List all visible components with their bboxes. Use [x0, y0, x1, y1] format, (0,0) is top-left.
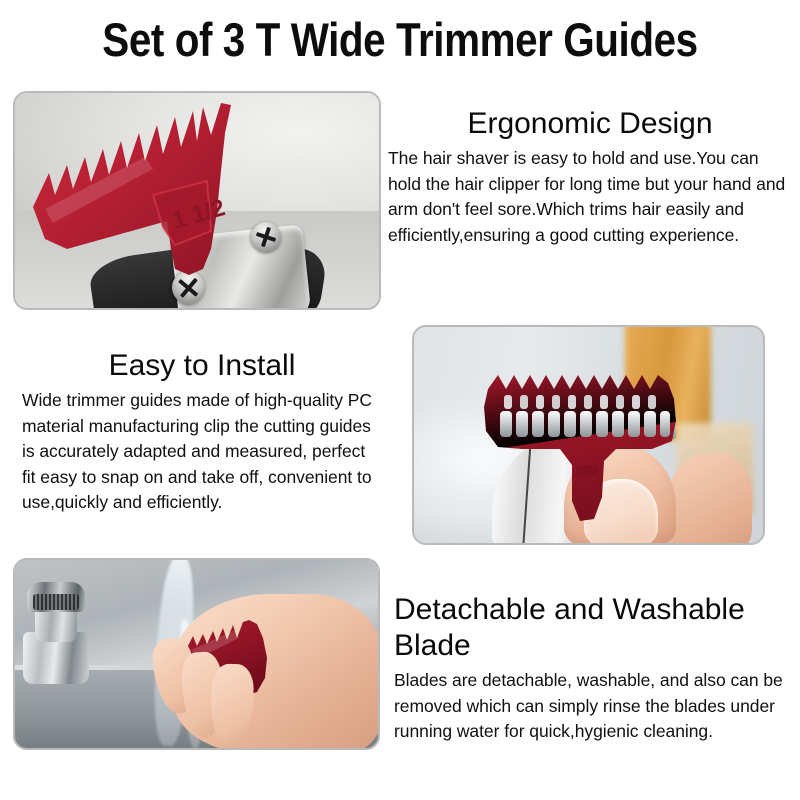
section-heading-wash: Detachable and Washable Blade: [394, 592, 794, 664]
product-image-wash: [13, 558, 380, 750]
guide-teeth-slots: [500, 411, 670, 437]
section-text-wash: Detachable and Washable Blade Blades are…: [394, 592, 794, 745]
photo-scene-install: [414, 327, 763, 543]
product-image-ergonomic: 1 1/2: [13, 91, 381, 310]
photo-scene-ergonomic: 1 1/2: [15, 93, 379, 308]
section-text-install: Easy to Install Wide trimmer guides made…: [22, 348, 382, 516]
section-text-ergonomic: Ergonomic Design The hair shaver is easy…: [388, 106, 792, 248]
section-heading-ergonomic: Ergonomic Design: [388, 106, 792, 142]
red-t-guide: [476, 369, 716, 529]
section-body-ergonomic: The hair shaver is easy to hold and use.…: [388, 146, 792, 248]
photo-scene-wash: [15, 560, 378, 748]
red-trimmer-guide-comb: 1 1/2: [25, 99, 285, 299]
section-heading-install: Easy to Install: [22, 348, 382, 384]
product-image-install: [412, 325, 765, 545]
section-body-install: Wide trimmer guides made of high-quality…: [22, 388, 382, 516]
section-body-wash: Blades are detachable, washable, and als…: [394, 668, 794, 745]
page-title: Set of 3 T Wide Trimmer Guides: [56, 14, 744, 66]
faucet-aerator-grip: [33, 594, 79, 610]
